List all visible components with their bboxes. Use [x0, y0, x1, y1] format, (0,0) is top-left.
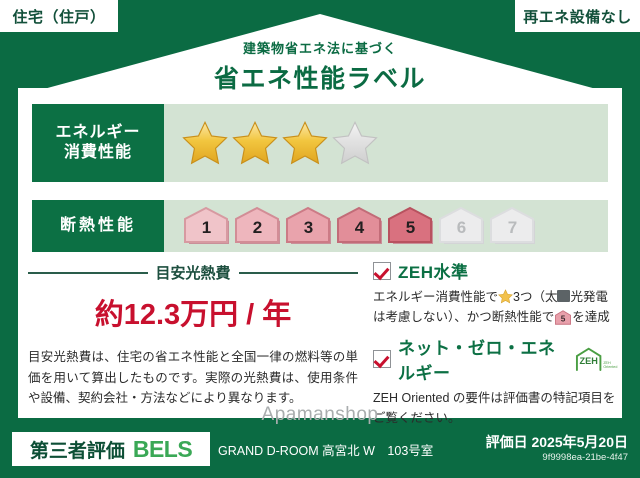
- utility-cost-section: 目安光熱費 約12.3万円 / 年 目安光熱費は、住宅の省エネ性能と全国一律の燃…: [28, 258, 358, 409]
- checkbox-checked-icon: [373, 262, 391, 280]
- insulation-performance-label: 断熱性能: [32, 200, 164, 252]
- badge-housing-type: 住宅（住戸）: [0, 0, 118, 32]
- energy-performance-label: エネルギー 消費性能: [32, 104, 164, 182]
- zeh-oriented-logo-icon: ZEH ZEH Oriented: [574, 346, 618, 372]
- lower-section: 目安光熱費 約12.3万円 / 年 目安光熱費は、住宅の省エネ性能と全国一律の燃…: [18, 258, 622, 418]
- grade-number: 2: [233, 218, 282, 238]
- net-zero-title: ネット・ゼロ・エネルギー: [398, 334, 567, 384]
- evaluation-date: 評価日 2025年5月20日: [486, 432, 628, 452]
- star-empty-icon: [332, 120, 378, 166]
- zeh-text-part1: エネルギー消費性能で: [373, 290, 498, 304]
- grade-number: 4: [335, 218, 384, 238]
- utility-cost-note: 目安光熱費は、住宅の省エネ性能と全国一律の燃料等の単価を用いて算出したものです。…: [28, 347, 358, 409]
- bels-logo-jp: 第三者評価: [30, 436, 125, 463]
- label-title-block: 建築物省エネ法に基づく 省エネ性能ラベル: [0, 38, 640, 95]
- svg-text:ZEH: ZEH: [580, 356, 598, 366]
- redacted-character: [557, 290, 570, 302]
- grade-house-4: 4: [335, 206, 384, 246]
- badge-renewable-equipment: 再エネ設備なし: [515, 0, 640, 32]
- svg-text:5: 5: [561, 315, 566, 324]
- insulation-performance-row: 断熱性能 1234567: [32, 200, 608, 252]
- grade-house-3: 3: [284, 206, 333, 246]
- footer-bar: 第三者評価 BELS GRAND D-ROOM 高宮北 W 103号室 評価日 …: [0, 424, 640, 478]
- zeh-level-body: エネルギー消費性能で3つ（太光発電は考慮しない）、かつ断熱性能で5を達成: [373, 287, 618, 328]
- grade-number: 5: [386, 218, 435, 238]
- evaluation-id: 9f9998ea-21be-4f47: [542, 452, 628, 463]
- grade-number: 3: [284, 218, 333, 238]
- net-zero-heading: ネット・ゼロ・エネルギー ZEH ZEH Oriented: [373, 334, 618, 384]
- title-subtitle: 建築物省エネ法に基づく: [0, 38, 640, 57]
- checkbox-checked-icon: [373, 350, 391, 368]
- grade-house-6: 6: [437, 206, 486, 246]
- star-filled-icon: [232, 120, 278, 166]
- watermark: Apamanshop: [0, 404, 640, 426]
- grade-number: 6: [437, 218, 486, 238]
- utility-cost-heading: 目安光熱費: [28, 262, 358, 283]
- building-name: GRAND D-ROOM 高宮北 W 103号室: [218, 440, 433, 459]
- svg-text:Oriented: Oriented: [603, 364, 617, 368]
- star-rating: [164, 104, 608, 182]
- utility-cost-amount: 約12.3万円 / 年: [28, 291, 358, 333]
- grade-house-2: 2: [233, 206, 282, 246]
- bels-logo: 第三者評価 BELS: [12, 432, 210, 466]
- energy-label-line1: エネルギー: [55, 124, 140, 141]
- heading-rule-right: [239, 272, 359, 274]
- inline-grade-badge-icon: 5: [554, 310, 572, 325]
- grade-house-7: 7: [488, 206, 537, 246]
- grade-house-1: 1: [182, 206, 231, 246]
- grade-number: 7: [488, 218, 537, 238]
- star-filled-icon: [282, 120, 328, 166]
- grade-house-5: 5: [386, 206, 435, 246]
- grade-number: 1: [182, 218, 231, 238]
- energy-label-card: 住宅（住戸） 再エネ設備なし 建築物省エネ法に基づく 省エネ性能ラベル エネルギ…: [0, 0, 640, 478]
- zeh-text-part2: 3つ（太: [513, 290, 557, 304]
- utility-cost-heading-text: 目安光熱費: [156, 262, 231, 283]
- title-main: 省エネ性能ラベル: [0, 59, 640, 95]
- zeh-text-part4: を達成: [572, 310, 610, 324]
- star-filled-icon: [182, 120, 228, 166]
- heading-rule-left: [28, 272, 148, 274]
- energy-label-line2: 消費性能: [64, 144, 132, 161]
- bels-logo-en: BELS: [133, 436, 192, 463]
- inline-star-icon: [498, 289, 513, 304]
- insulation-grade-scale: 1234567: [164, 200, 608, 252]
- zeh-level-block: ZEH水準 エネルギー消費性能で3つ（太光発電は考慮しない）、かつ断熱性能で5を…: [373, 258, 618, 328]
- zeh-level-title: ZEH水準: [398, 258, 469, 283]
- energy-performance-row: エネルギー 消費性能: [32, 104, 608, 182]
- zeh-level-heading: ZEH水準: [373, 258, 618, 283]
